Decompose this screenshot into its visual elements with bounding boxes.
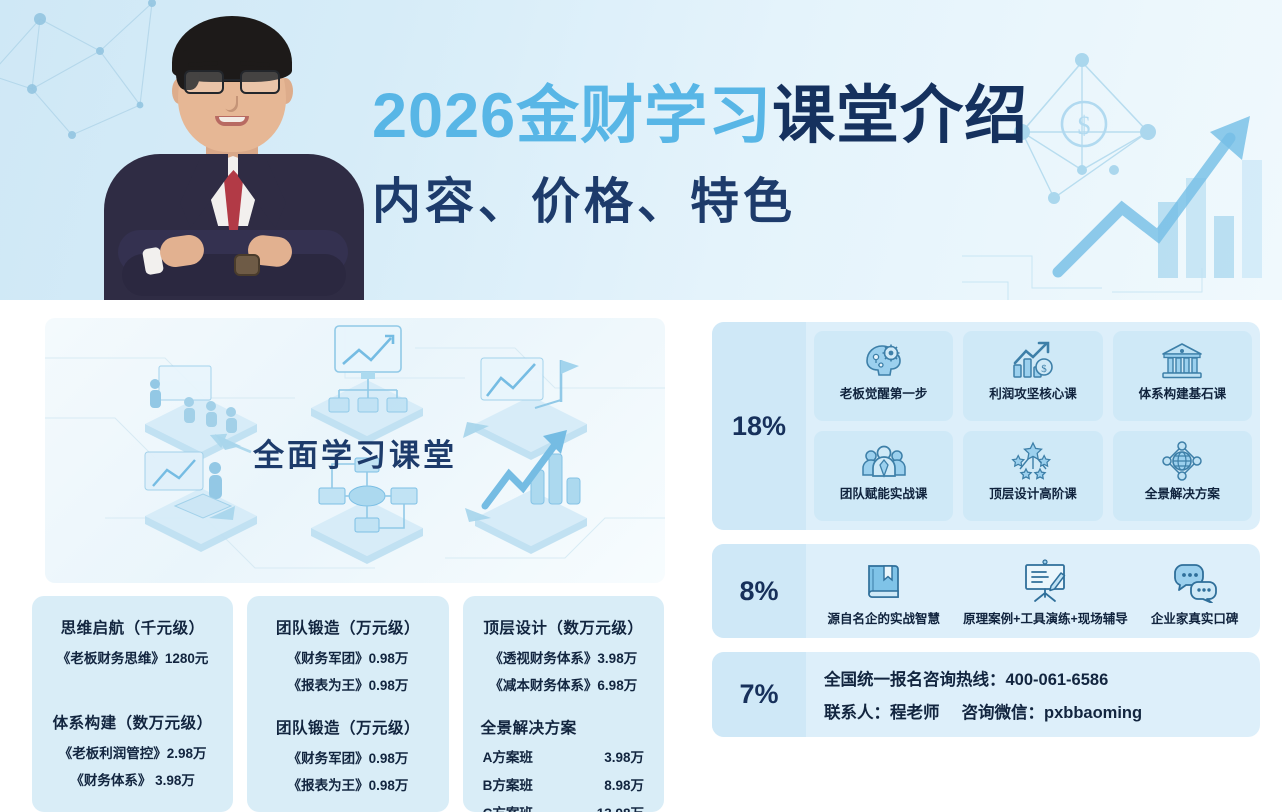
person-label: 联系人： bbox=[824, 704, 890, 722]
pricing-group-title: 思维启航（千元级） bbox=[44, 616, 221, 638]
plan-price: 3.98万 bbox=[604, 746, 644, 766]
pricing-item: 《财务军团》0.98万 bbox=[259, 647, 436, 667]
presentation-board-icon bbox=[1021, 557, 1069, 603]
growth-chart-dollar-icon: $ bbox=[1010, 340, 1056, 382]
presenter-photo bbox=[98, 4, 368, 296]
features-block: 8% 源自名企的实战智慧 bbox=[712, 544, 1260, 638]
pricing-panels: 思维启航（千元级） 《老板财务思维》1280元 体系构建（数万元级） 《老板利润… bbox=[32, 596, 664, 812]
pricing-item: 《财务军团》0.98万 bbox=[259, 747, 436, 767]
plan-price: 13.98万 bbox=[597, 802, 644, 812]
poster-page: $ bbox=[0, 0, 1282, 812]
feature-label: 原理案例+工具演练+现场辅导 bbox=[963, 608, 1128, 627]
pricing-group-title: 全景解决方案 bbox=[475, 716, 652, 738]
plan-row: A方案班 3.98万 bbox=[475, 746, 652, 766]
pricing-item: 《老板利润管控》2.98万 bbox=[44, 742, 221, 762]
pricing-item: 《减本财务体系》6.98万 bbox=[475, 674, 652, 694]
header-title-group: 2026金财学习课堂介绍 内容、价格、特色 bbox=[372, 82, 1028, 233]
speech-bubbles-icon bbox=[1171, 557, 1219, 603]
plan-price: 8.98万 bbox=[604, 774, 644, 794]
pricing-card-1: 思维启航（千元级） 《老板财务思维》1280元 体系构建（数万元级） 《老板利润… bbox=[32, 596, 233, 812]
course-tile-label: 利润攻坚核心课 bbox=[989, 387, 1077, 402]
feature-item-1[interactable]: 源自名企的实战智慧 bbox=[828, 557, 941, 627]
courses-percent: 18% bbox=[712, 322, 806, 530]
hotline-value[interactable]: 400-061-6586 bbox=[1006, 671, 1109, 689]
pricing-group-title: 顶层设计（数万元级） bbox=[475, 616, 652, 638]
courses-block: 18% bbox=[712, 322, 1260, 530]
book-icon bbox=[862, 557, 906, 603]
pricing-group-title: 团队锻造（万元级） bbox=[259, 716, 436, 738]
title-rest: 课堂介绍 bbox=[772, 81, 1028, 151]
contact-person-line: 联系人：程老师咨询微信：pxbbaoming bbox=[824, 699, 1250, 723]
feature-label: 企业家真实口碑 bbox=[1151, 608, 1239, 627]
hotline-label: 全国统一报名咨询热线： bbox=[824, 671, 1006, 689]
hotline-line: 全国统一报名咨询热线：400-061-6586 bbox=[824, 666, 1250, 690]
wechat-value[interactable]: pxbbaoming bbox=[1044, 704, 1142, 722]
course-tile-label: 老板觉醒第一步 bbox=[840, 387, 928, 402]
mouth bbox=[215, 116, 249, 126]
course-tile-3[interactable]: 体系构建基石课 bbox=[1113, 331, 1252, 421]
wechat-label: 咨询微信： bbox=[962, 704, 1045, 722]
team-group-icon bbox=[861, 440, 907, 482]
course-tile-label: 顶层设计高阶课 bbox=[989, 487, 1077, 502]
course-tile-4[interactable]: 团队赋能实战课 bbox=[814, 431, 953, 521]
stars-network-icon bbox=[1010, 440, 1056, 482]
course-tile-label: 团队赋能实战课 bbox=[840, 487, 928, 502]
features-percent: 8% bbox=[712, 544, 806, 638]
svg-text:$: $ bbox=[1078, 111, 1091, 140]
feature-item-3[interactable]: 企业家真实口碑 bbox=[1151, 557, 1239, 627]
pricing-item: 《报表为王》0.98万 bbox=[259, 774, 436, 794]
course-tile-label: 体系构建基石课 bbox=[1139, 387, 1227, 402]
page-title: 2026金财学习课堂介绍 bbox=[372, 82, 1028, 150]
feature-item-2[interactable]: 原理案例+工具演练+现场辅导 bbox=[963, 557, 1128, 627]
pricing-group-title: 团队锻造（万元级） bbox=[259, 616, 436, 638]
plan-name: B方案班 bbox=[483, 774, 533, 794]
contact-block: 7% 全国统一报名咨询热线：400-061-6586 联系人：程老师咨询微信：p… bbox=[712, 652, 1260, 737]
pricing-card-3: 顶层设计（数万元级） 《透视财务体系》3.98万 《减本财务体系》6.98万 全… bbox=[463, 596, 664, 812]
course-tile-6[interactable]: 全景解决方案 bbox=[1113, 431, 1252, 521]
illustration-title: 全面学习课堂 bbox=[45, 430, 665, 475]
wristwatch-icon bbox=[234, 254, 260, 276]
bank-building-icon bbox=[1159, 340, 1205, 382]
svg-text:$: $ bbox=[1041, 363, 1047, 375]
course-tile-2[interactable]: $ 利润攻坚核心课 bbox=[963, 331, 1102, 421]
pricing-item: 《老板财务思维》1280元 bbox=[44, 647, 221, 667]
nose bbox=[224, 96, 238, 112]
header-banner: $ bbox=[0, 0, 1282, 300]
pricing-item: 《报表为王》0.98万 bbox=[259, 674, 436, 694]
plan-row: C方案班 13.98万 bbox=[475, 802, 652, 812]
plan-row: B方案班 8.98万 bbox=[475, 774, 652, 794]
course-tile-5[interactable]: 顶层设计高阶课 bbox=[963, 431, 1102, 521]
right-column: 18% bbox=[712, 322, 1260, 751]
learning-classroom-illustration: 全面学习课堂 bbox=[45, 318, 665, 583]
body-content: 全面学习课堂 思维启航（千元级） 《老板财务思维》1280元 体系构建（数万元级… bbox=[0, 300, 1282, 812]
course-tile-label: 全景解决方案 bbox=[1145, 487, 1220, 502]
pricing-group-title: 体系构建（数万元级） bbox=[44, 711, 221, 733]
pricing-item: 《财务体系》 3.98万 bbox=[44, 769, 221, 789]
course-tile-1[interactable]: 老板觉醒第一步 bbox=[814, 331, 953, 421]
brain-gear-icon bbox=[861, 340, 907, 382]
pricing-item: 《透视财务体系》3.98万 bbox=[475, 647, 652, 667]
plan-name: C方案班 bbox=[483, 802, 533, 812]
features-row: 源自名企的实战智慧 bbox=[814, 553, 1252, 629]
title-highlight: 2026金财学习 bbox=[372, 81, 772, 151]
plan-name: A方案班 bbox=[483, 746, 533, 766]
globe-network-icon bbox=[1159, 440, 1205, 482]
pricing-card-2: 团队锻造（万元级） 《财务军团》0.98万 《报表为王》0.98万 团队锻造（万… bbox=[247, 596, 448, 812]
contact-percent: 7% bbox=[712, 652, 806, 737]
eyeglasses-icon bbox=[182, 70, 282, 94]
courses-grid: 老板觉醒第一步 bbox=[814, 331, 1252, 521]
page-subtitle: 内容、价格、特色 bbox=[372, 162, 1028, 233]
feature-label: 源自名企的实战智慧 bbox=[828, 608, 941, 627]
person-value: 程老师 bbox=[890, 704, 940, 722]
